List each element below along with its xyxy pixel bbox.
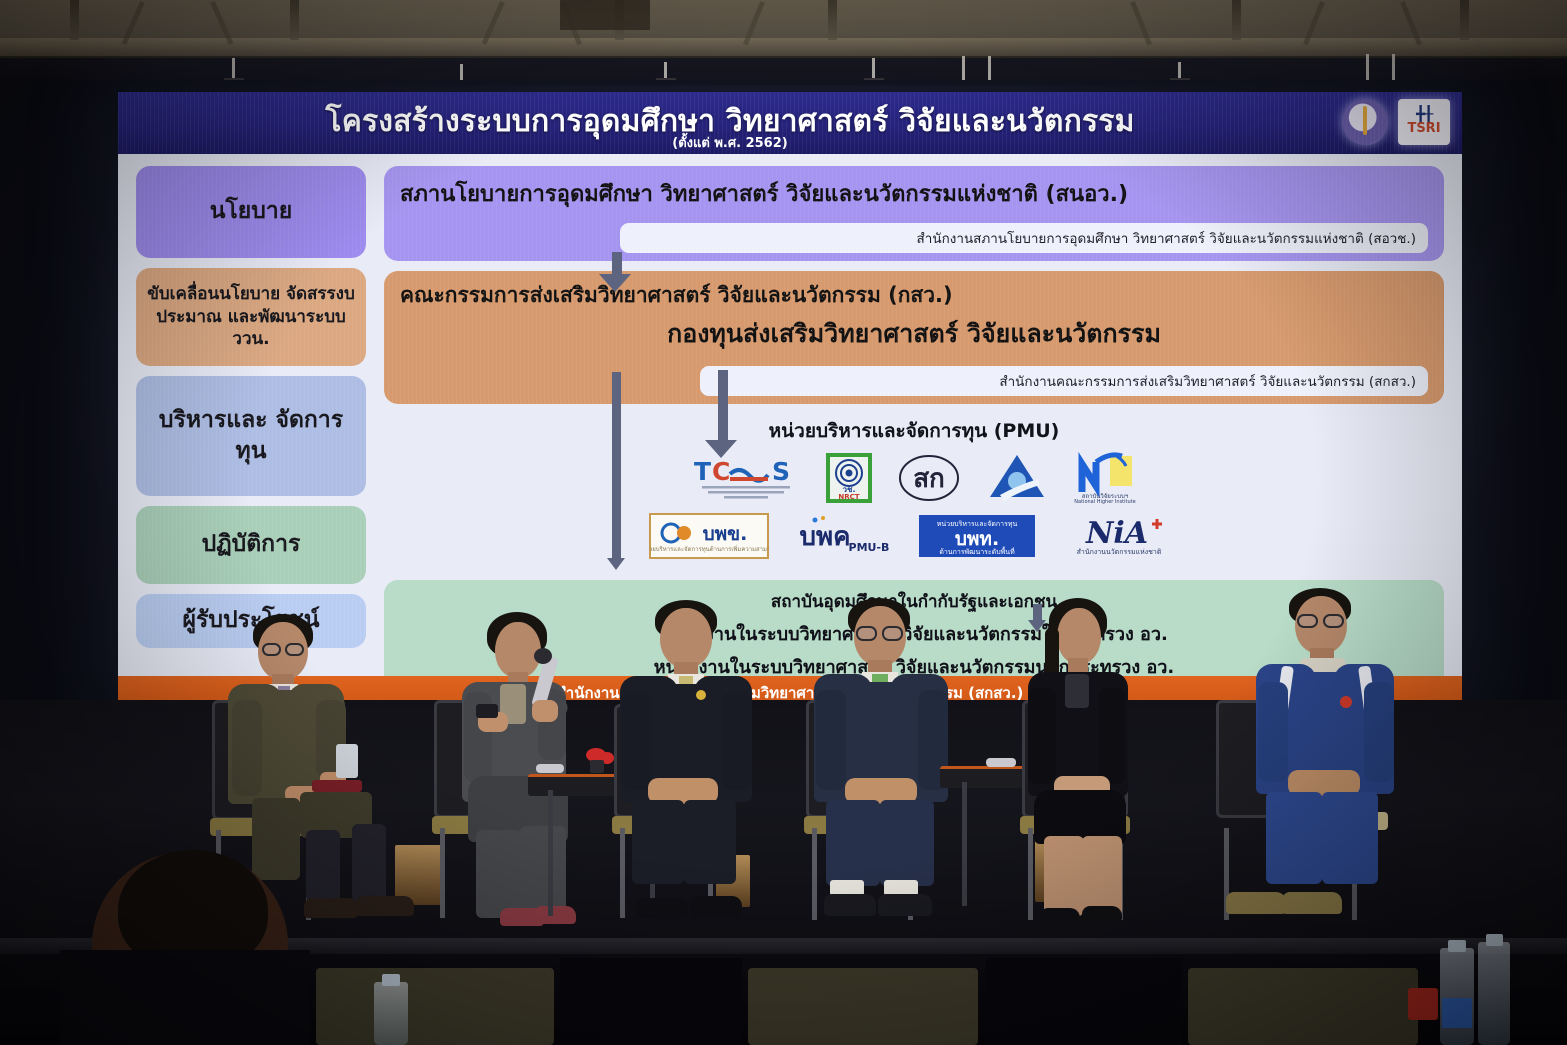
arrow-head (705, 440, 737, 458)
rail-item-drive: ขับเคลื่อนนโยบาย จัดสรรงบประมาณ และพัฒนา… (136, 268, 366, 366)
eyeglasses-icon (1323, 614, 1344, 628)
rail-item-operation: ปฏิบัติการ (136, 506, 366, 584)
microphone (986, 758, 1016, 767)
foreground-gap (986, 958, 1182, 1045)
svg-text:บพข.: บพข. (703, 523, 748, 545)
nsrf-logo-icon: สถาบันวิจัยระบบฯ National Higher Institu… (1074, 452, 1136, 504)
tcels-logo-icon: T C S (692, 452, 800, 504)
audience-shoulders (60, 950, 310, 1045)
svg-text:NRCT: NRCT (838, 493, 859, 501)
truss-post (70, 0, 79, 40)
photo-scene: โครงสร้างระบบการอุดมศึกษา วิทยาศาสตร์ วิ… (0, 0, 1567, 1045)
svg-text:สก: สก (913, 464, 945, 494)
rail-label: นโยบาย (210, 196, 293, 227)
presentation-slide: โครงสร้างระบบการอุดมศึกษา วิทยาศาสตร์ วิ… (118, 92, 1462, 710)
smartphone (336, 744, 358, 778)
svg-text:บพท.: บพท. (955, 528, 999, 550)
microphone (536, 764, 564, 773)
rail-label: บริหารและ จัดการทุน (146, 405, 356, 467)
svg-text:NiA: NiA (1085, 516, 1148, 551)
red-cup (1408, 988, 1438, 1020)
pmua-logo-icon: หน่วยบริหารและจัดการทุน บพท. ด้านการพัฒน… (919, 510, 1035, 562)
pmu-logo-row-2: บพข. หน่วยบริหารและจัดการทุนด้านการเพิ่ม… (384, 510, 1444, 562)
truss-post (1460, 0, 1469, 40)
lamp-stem (232, 58, 235, 80)
truss-post (828, 0, 837, 40)
slide-title-subtitle: (ตั้งแต่ พ.ศ. 2562) (180, 132, 1280, 153)
bottle-cap (1448, 940, 1466, 952)
pmu-section: หน่วยบริหารและจัดการทุน (PMU) T C S (384, 416, 1444, 564)
ceiling-beam (0, 38, 1567, 58)
svg-text:สำนักงานนวัตกรรมแห่งชาติ: สำนักงานนวัตกรรมแห่งชาติ (1077, 548, 1162, 556)
truss-post (1232, 0, 1241, 40)
bottle-label (1442, 998, 1472, 1028)
lamp-stem (1392, 54, 1395, 80)
microphone-head (534, 648, 552, 664)
rail-item-policy: นโยบาย (136, 166, 366, 258)
folder (312, 780, 362, 792)
lamp-stem (988, 56, 991, 80)
foreground-gap (560, 958, 742, 1045)
pmub-logo-icon: บพค PMU-B (795, 510, 893, 562)
pmu-section-title: หน่วยบริหารและจัดการทุน (PMU) (384, 416, 1444, 446)
lapel-pin (1340, 696, 1352, 708)
trf-logo-icon: สก (898, 452, 960, 504)
operation-line-1: สถาบันอุดมศึกษาในกำกับรัฐและเอกชน (400, 588, 1428, 615)
tsri-wordmark: TSRI (1407, 122, 1440, 136)
clicker (476, 704, 498, 718)
arrow-head (607, 558, 625, 570)
fund-committee-box: คณะกรรมการส่งเสริมวิทยาศาสตร์ วิจัยและนว… (384, 271, 1444, 404)
lamp-stem (962, 56, 965, 80)
svg-text:หน่วยบริหารและจัดการทุนด้านการ: หน่วยบริหารและจัดการทุนด้านการเพิ่มความส… (649, 545, 769, 553)
fund-committee-title: คณะกรรมการส่งเสริมวิทยาศาสตร์ วิจัยและนว… (400, 279, 1428, 312)
slide-title: โครงสร้างระบบการอุดมศึกษา วิทยาศาสตร์ วิ… (180, 98, 1280, 145)
water-bottle (1440, 948, 1474, 1045)
rail-label: ขับเคลื่อนนโยบาย จัดสรรงบประมาณ และพัฒนา… (146, 283, 356, 352)
slide-logos: ╋╂ TSRI (1342, 99, 1450, 145)
arrow-fund-to-pmu (718, 370, 728, 444)
eyeglasses-icon (856, 626, 877, 641)
svg-text:PMU-B: PMU-B (849, 541, 890, 554)
ministry-emblem-icon (1342, 99, 1388, 145)
eyeglasses-icon (262, 643, 281, 656)
svg-text:C: C (712, 457, 730, 486)
blouse (1065, 674, 1089, 708)
bottle-cap (382, 974, 400, 986)
svg-text:T: T (694, 457, 711, 486)
foreground-chair (316, 968, 554, 1045)
eyeglasses-icon (285, 643, 304, 656)
pmuc-logo-icon: บพข. หน่วยบริหารและจัดการทุนด้านการเพิ่ม… (649, 510, 769, 562)
svg-text:S: S (772, 457, 790, 486)
operation-line-2: หน่วยงานในระบบวิทยาศาสตร์ วิจัยและนวัตกร… (400, 619, 1428, 648)
nia-logo-icon: NiA สำนักงานนวัตกรรมแห่งชาติ (1061, 510, 1179, 562)
lapel-pin (696, 690, 706, 700)
policy-box: สภานโยบายการอุดมศึกษา วิทยาศาสตร์ วิจัยแ… (384, 166, 1444, 261)
tsri-mark: ╋╂ (1416, 107, 1432, 122)
lamp-stem (872, 58, 875, 80)
svg-text:National Higher Institute: National Higher Institute (1074, 499, 1135, 504)
tsri-logo-icon: ╋╂ TSRI (1398, 99, 1450, 145)
bottle-cap (1486, 934, 1503, 946)
nrct-logo-icon: วช. NRCT (826, 452, 872, 504)
lamp-stem (1366, 54, 1369, 80)
fund-name: กองทุนส่งเสริมวิทยาศาสตร์ วิจัยและนวัตกร… (400, 314, 1428, 354)
foreground-chair (748, 968, 978, 1045)
hsri-logo-icon (986, 452, 1048, 504)
truss-post (290, 0, 299, 40)
pmu-logo-row-1: T C S (384, 452, 1444, 504)
svg-text:หน่วยบริหารและจัดการทุน: หน่วยบริหารและจัดการทุน (937, 520, 1018, 528)
policy-box-title: สภานโยบายการอุดมศึกษา วิทยาศาสตร์ วิจัยแ… (400, 176, 1428, 211)
policy-box-subline: สำนักงานสภานโยบายการอุดมศึกษา วิทยาศาสตร… (620, 223, 1428, 253)
slide-left-rail: นโยบาย ขับเคลื่อนนโยบาย จัดสรรงบประมาณ แ… (136, 166, 366, 658)
ceiling-duct (560, 0, 650, 30)
arrow-head (1028, 620, 1046, 632)
rail-item-beneficiary: ผู้รับประโยชน์ (136, 594, 366, 648)
svg-text:บพค: บพค (799, 522, 850, 552)
slide-title-bar: โครงสร้างระบบการอุดมศึกษา วิทยาศาสตร์ วิ… (118, 92, 1462, 154)
foreground-chair (1188, 968, 1418, 1045)
water-bottle (1478, 942, 1510, 1045)
eyeglasses-icon (882, 626, 903, 641)
fund-box-subline: สำนักงานคณะกรรมการส่งเสริมวิทยาศาสตร์ วิ… (700, 366, 1428, 396)
eyeglasses-icon (1297, 614, 1318, 628)
water-bottle (374, 982, 408, 1045)
arrow-fund-to-operation (612, 372, 621, 562)
hand (532, 700, 558, 722)
rail-item-fund-management: บริหารและ จัดการทุน (136, 376, 366, 496)
arrow-head (599, 274, 631, 292)
rail-label: ปฏิบัติการ (202, 529, 301, 560)
